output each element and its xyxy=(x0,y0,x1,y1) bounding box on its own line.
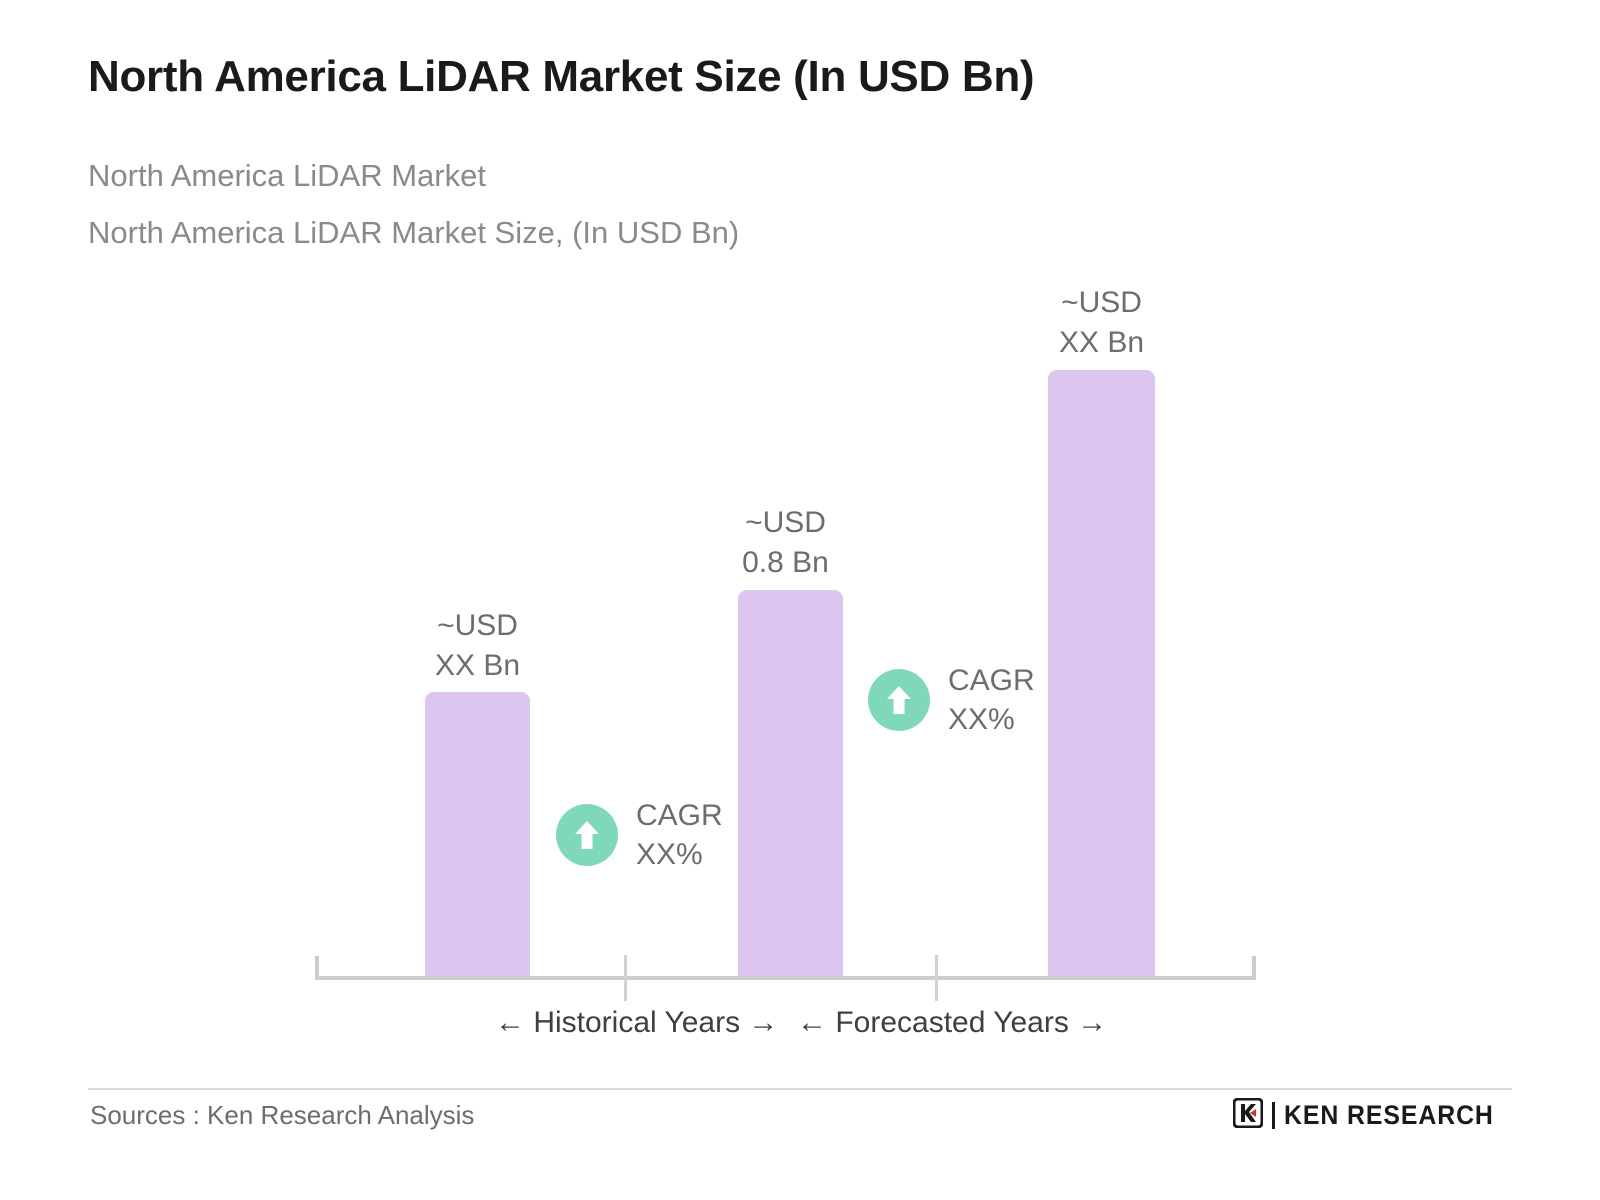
page-title: North America LiDAR Market Size (In USD … xyxy=(88,52,1034,102)
cagr-badge-2[interactable]: CAGR XX% xyxy=(868,661,1035,739)
bar-1[interactable] xyxy=(425,692,530,978)
bar-value-label-3: ~USD XX Bn xyxy=(984,283,1219,363)
axis-divider-forecast-end xyxy=(935,955,938,1001)
axis-label-historical-text: ← Historical Years → xyxy=(495,1006,778,1039)
slide-canvas: North America LiDAR Market Size (In USD … xyxy=(0,0,1600,1200)
axis-label-historical-years: ← Historical Years → xyxy=(495,1006,778,1040)
logo-separator xyxy=(1272,1102,1275,1129)
axis-label-forecasted-years: ← Forecasted Years → xyxy=(797,1006,1107,1040)
ken-research-k-mark-icon xyxy=(1233,1098,1263,1133)
arrow-up-icon xyxy=(868,669,930,731)
sources-text: Sources : Ken Research Analysis xyxy=(90,1100,474,1131)
axis-end-cap-left xyxy=(315,956,319,980)
axis-label-forecasted-text: ← Forecasted Years → xyxy=(797,1006,1107,1039)
footer-divider xyxy=(88,1088,1512,1090)
subtitle-market-name: North America LiDAR Market xyxy=(88,158,486,194)
arrow-up-icon xyxy=(556,804,618,866)
bar-2[interactable] xyxy=(738,590,843,978)
ken-research-logo: KEN RESEARCH xyxy=(1233,1098,1512,1133)
axis-end-cap-right xyxy=(1252,956,1256,980)
logo-wordmark: KEN RESEARCH xyxy=(1284,1100,1494,1131)
subtitle-chart-caption: North America LiDAR Market Size, (In USD… xyxy=(88,215,739,251)
cagr-badge-1[interactable]: CAGR XX% xyxy=(556,796,723,874)
cagr-label-1: CAGR XX% xyxy=(636,796,723,874)
bar-value-label-1: ~USD XX Bn xyxy=(360,606,595,686)
axis-divider-historical-forecast xyxy=(624,955,627,1001)
bar-value-label-2: ~USD 0.8 Bn xyxy=(668,503,903,583)
bar-3[interactable] xyxy=(1048,370,1155,978)
cagr-label-2: CAGR XX% xyxy=(948,661,1035,739)
